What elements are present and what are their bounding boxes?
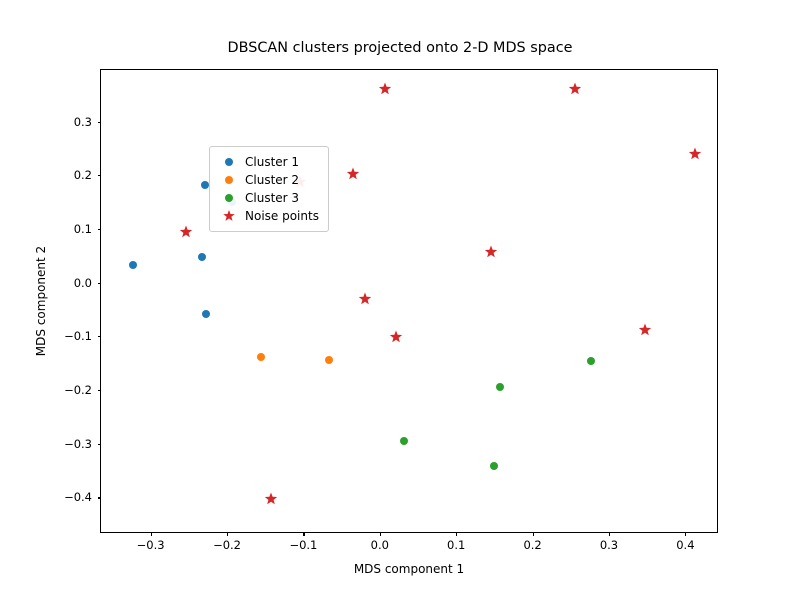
data-point: [389, 331, 402, 344]
y-tick-label: −0.1: [64, 329, 92, 343]
legend-item-1[interactable]: Cluster 1: [217, 153, 319, 171]
data-point: [688, 148, 701, 161]
legend-item-label: Cluster 1: [241, 155, 299, 169]
x-tick-label: 0.2: [523, 538, 541, 552]
x-tick-mark: [533, 532, 534, 536]
x-tick-mark: [151, 532, 152, 536]
data-point: [201, 181, 209, 189]
circle-marker-icon: [217, 176, 241, 184]
x-tick-mark: [227, 532, 228, 536]
x-tick-label: 0.1: [447, 538, 465, 552]
data-point: [129, 261, 137, 269]
x-tick-label: 0.3: [600, 538, 618, 552]
scatter-points-layer: [101, 70, 717, 532]
legend-item-3[interactable]: Cluster 3: [217, 189, 319, 207]
data-point: [569, 83, 582, 96]
page-title: DBSCAN clusters projected onto 2-D MDS s…: [0, 40, 800, 56]
chart-legend: Cluster 1Cluster 2Cluster 3Noise points: [209, 146, 329, 232]
x-tick-label: 0.4: [676, 538, 694, 552]
y-tick-label: 0.0: [74, 276, 92, 290]
y-axis-label: MDS component 2: [34, 69, 48, 533]
legend-item-label: Noise points: [241, 209, 319, 223]
data-point: [347, 168, 360, 181]
data-point: [496, 383, 504, 391]
x-tick-mark: [303, 532, 304, 536]
y-tick-label: 0.1: [74, 222, 92, 236]
data-point: [379, 83, 392, 96]
y-tick-label: −0.4: [64, 490, 92, 504]
data-point: [264, 492, 277, 505]
data-point: [638, 323, 651, 336]
data-point: [485, 245, 498, 258]
x-tick-label: −0.2: [213, 538, 241, 552]
legend-item-4[interactable]: Noise points: [217, 207, 319, 225]
circle-marker-icon: [217, 158, 241, 166]
x-tick-mark: [456, 532, 457, 536]
x-tick-label: −0.3: [137, 538, 165, 552]
x-axis-label: MDS component 1: [100, 562, 718, 576]
data-point: [179, 225, 192, 238]
data-point: [358, 292, 371, 305]
data-point: [198, 253, 206, 261]
x-tick-mark: [609, 532, 610, 536]
circle-marker-icon: [217, 194, 241, 202]
plot-area: −0.3−0.2−0.10.00.10.20.30.4 −0.4−0.3−0.2…: [100, 69, 718, 533]
legend-item-label: Cluster 3: [241, 191, 299, 205]
y-tick-label: 0.2: [74, 168, 92, 182]
x-tick-mark: [685, 532, 686, 536]
data-point: [257, 353, 265, 361]
y-tick-label: −0.2: [64, 383, 92, 397]
data-point: [202, 310, 210, 318]
x-tick-label: −0.1: [289, 538, 317, 552]
x-tick-mark: [380, 532, 381, 536]
data-point: [400, 437, 408, 445]
x-tick-label: 0.0: [371, 538, 389, 552]
star-marker-icon: [217, 210, 241, 222]
data-point: [325, 356, 333, 364]
y-tick-label: −0.3: [64, 437, 92, 451]
legend-item-2[interactable]: Cluster 2: [217, 171, 319, 189]
data-point: [587, 357, 595, 365]
legend-item-label: Cluster 2: [241, 173, 299, 187]
data-point: [490, 462, 498, 470]
matplotlib-figure: DBSCAN clusters projected onto 2-D MDS s…: [0, 0, 800, 600]
y-tick-label: 0.3: [74, 115, 92, 129]
